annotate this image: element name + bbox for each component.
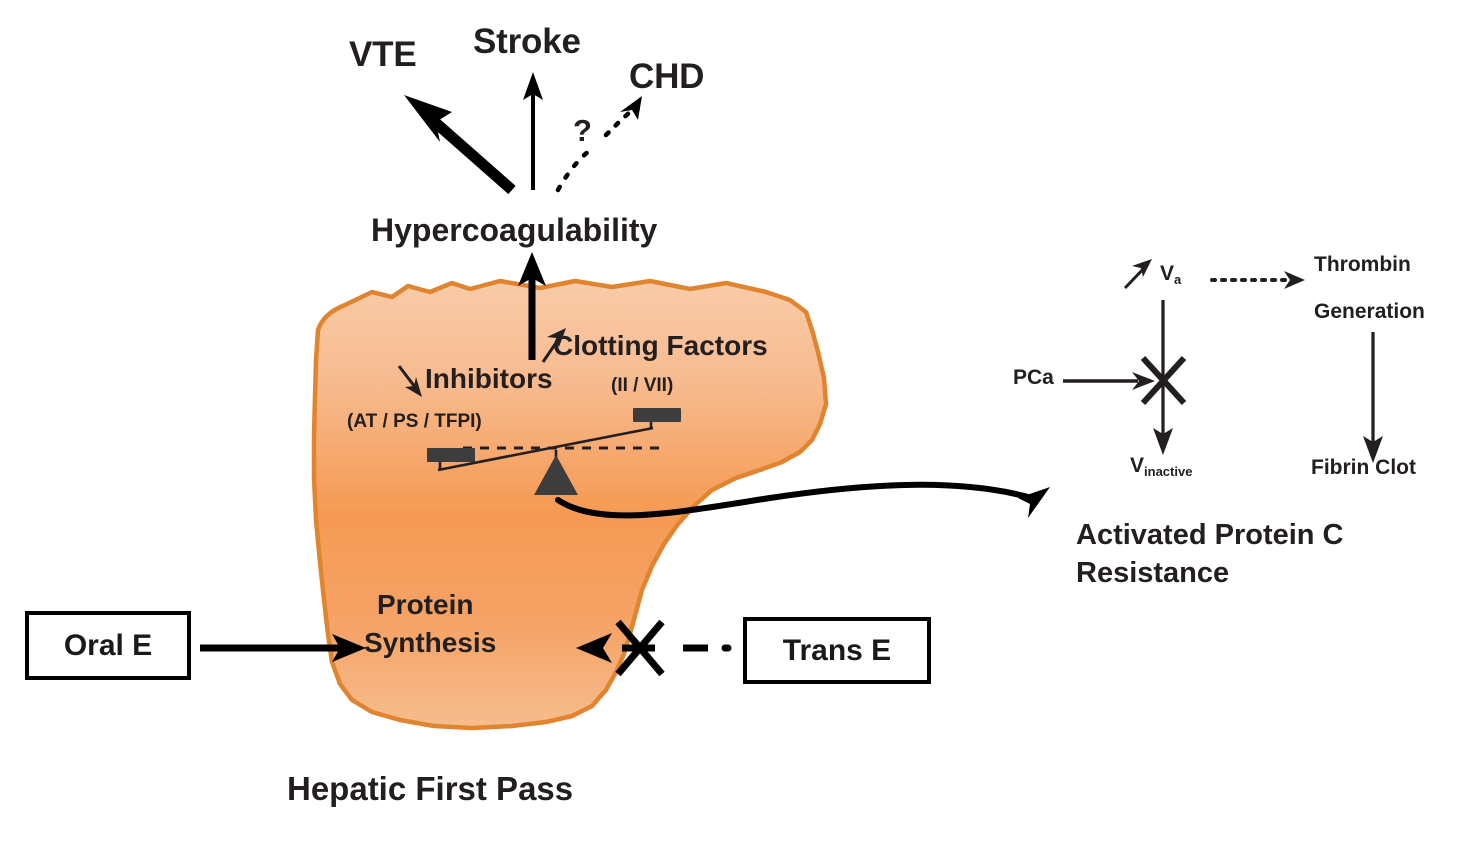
- arrow-va-increase: [1125, 259, 1152, 288]
- label-inhibitors: Inhibitors: [425, 363, 553, 395]
- arrow-pca: [1063, 372, 1155, 390]
- oral-e-box[interactable]: Oral E: [25, 611, 191, 680]
- label-v-inactive-text: V: [1130, 454, 1144, 477]
- diagram-canvas: Thrombin Generation -->: [0, 0, 1472, 841]
- label-clotting-factors: Clotting Factors: [553, 330, 768, 362]
- arrow-oral-e-to-protein-synthesis: [200, 634, 366, 662]
- arrow-hyper-to-vte: [404, 95, 512, 190]
- diagram-svg: Thrombin Generation -->: [0, 0, 1472, 841]
- trans-e-label: Trans E: [783, 634, 891, 668]
- label-protein-synthesis-line1: Protein: [377, 589, 473, 621]
- label-fibrin-clot: Fibrin Clot: [1311, 456, 1416, 480]
- oral-e-label: Oral E: [64, 629, 152, 663]
- label-apc-resistance-line2: Resistance: [1076, 556, 1229, 591]
- label-apc-resistance-line1: Activated Protein C: [1076, 518, 1344, 553]
- label-v-inactive-subscript: inactive: [1144, 464, 1192, 479]
- label-va-text: V: [1160, 262, 1174, 285]
- label-hepatic-first-pass: Hepatic First Pass: [287, 770, 573, 808]
- label-inhibitors-sub: (AT / PS / TFPI): [347, 411, 482, 433]
- label-va-subscript: a: [1174, 272, 1181, 287]
- label-chd: CHD: [629, 57, 704, 97]
- label-thrombin-line2: Generation: [1314, 300, 1425, 324]
- label-vte: VTE: [349, 35, 416, 75]
- arrow-hyper-to-chd: [558, 96, 642, 190]
- label-va: Va: [1160, 262, 1181, 287]
- label-protein-synthesis-line2: Synthesis: [364, 627, 496, 659]
- label-stroke: Stroke: [473, 22, 581, 62]
- label-question-mark: ?: [573, 113, 592, 149]
- arrow-hyper-to-stroke: [523, 72, 543, 190]
- arrow-thrombin-to-fibrin: [1363, 332, 1383, 463]
- label-hypercoagulability: Hypercoagulability: [371, 212, 657, 249]
- trans-e-box[interactable]: Trans E: [743, 617, 931, 684]
- arrow-va-to-thrombin: [1212, 271, 1305, 289]
- label-clotting-factors-sub: (II / VII): [611, 375, 673, 397]
- label-v-inactive: Vinactive: [1130, 454, 1192, 479]
- label-thrombin-line1: Thrombin: [1314, 253, 1411, 277]
- label-pca: PCa: [1013, 366, 1054, 390]
